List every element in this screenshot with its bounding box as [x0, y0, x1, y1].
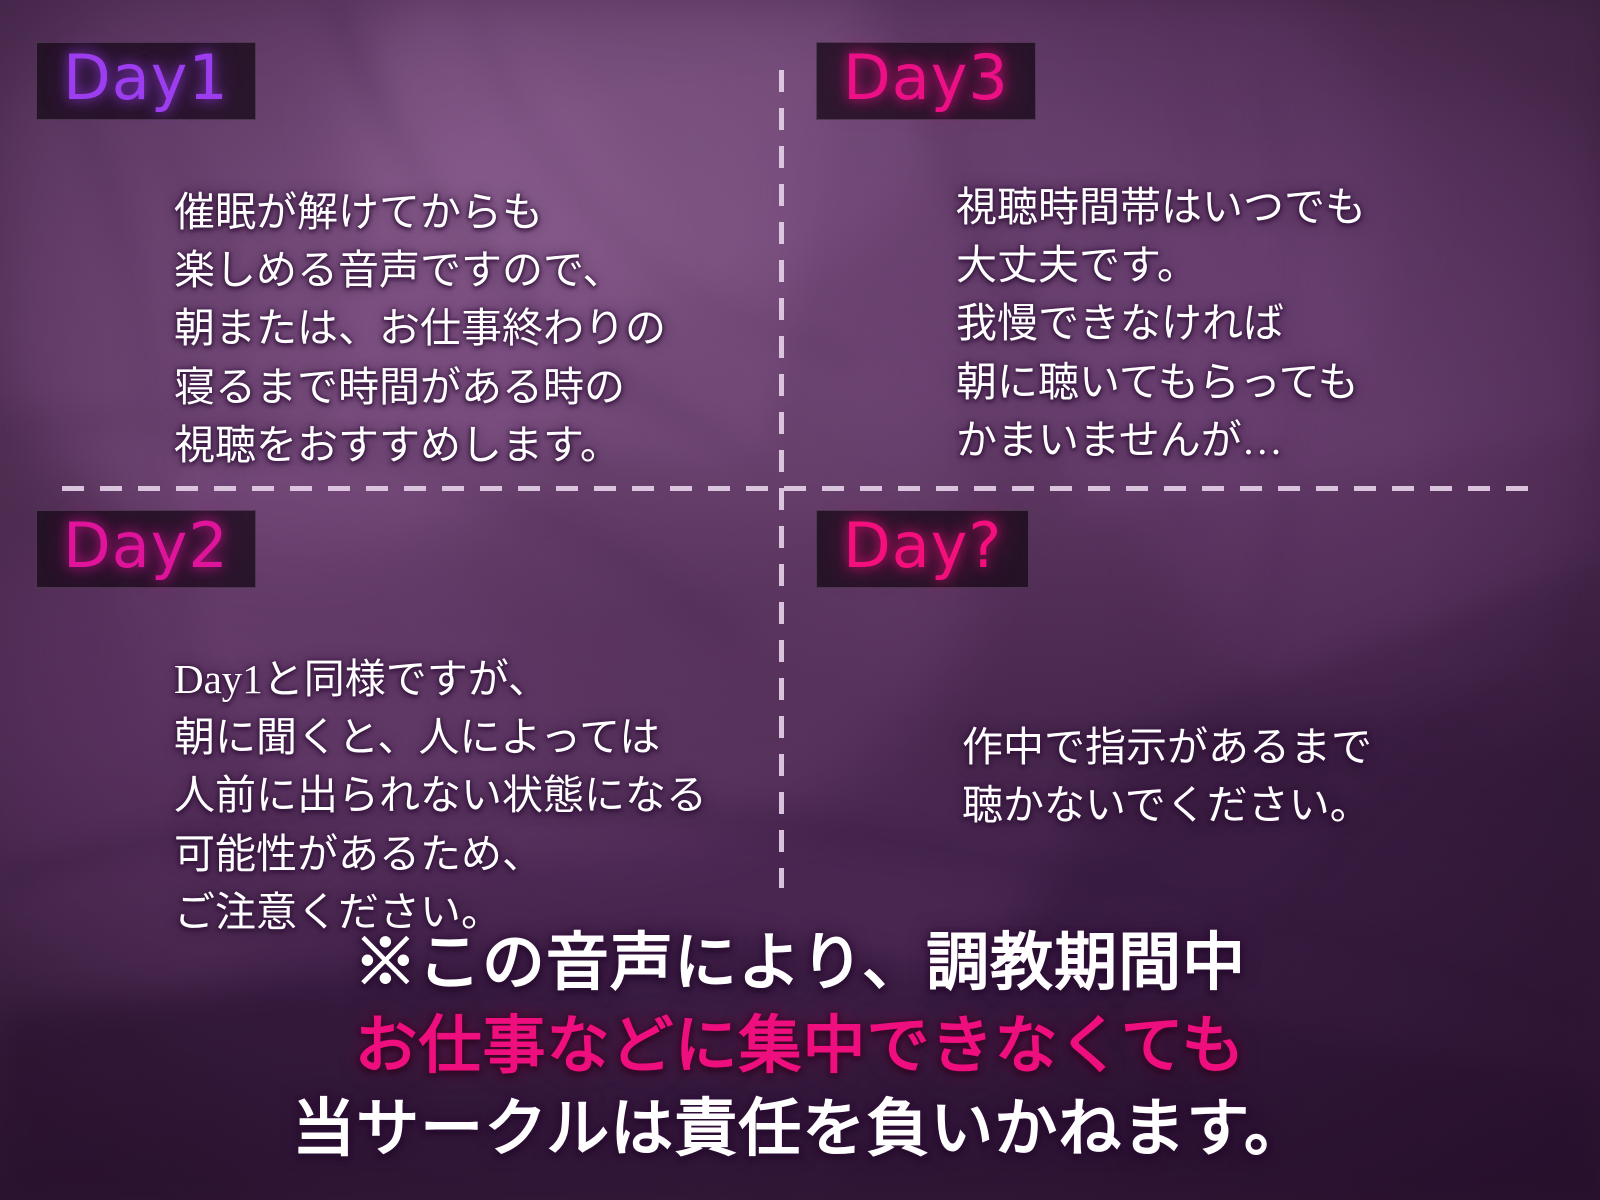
day2-body-text: Day1と同様ですが、 朝に聞くと、人によっては 人前に出られない状態になる 可…: [174, 650, 756, 941]
day2-badge: Day2: [36, 510, 256, 588]
divider-vertical-dashed: [779, 70, 784, 888]
warning-line-3: 当サークルは責任を負いかねます。: [0, 1088, 1600, 1171]
day1-body-text: 催眠が解けてからも 楽しめる音声ですので、 朝または、お仕事終わりの 寝るまで時…: [174, 183, 736, 474]
day-unknown-body-text: 作中で指示があるまで 聴かないでください。: [962, 718, 1516, 834]
bottom-warning-block: ※この音声により、調教期間中 お仕事などに集中できなくても 当サークルは責任を負…: [0, 922, 1600, 1171]
day2-badge-label: Day2: [63, 509, 229, 582]
quadrant-day2: Day2 Day1と同様ですが、 朝に聞くと、人によっては 人前に出られない状態…: [36, 510, 756, 941]
day-unknown-badge: Day?: [816, 510, 1029, 588]
quadrant-day3: Day3 視聴時間帯はいつでも 大丈夫です。 我慢できなければ 朝に聴いてもらっ…: [816, 42, 1516, 469]
quadrant-day1: Day1 催眠が解けてからも 楽しめる音声ですので、 朝または、お仕事終わりの …: [36, 42, 736, 474]
warning-line-2: お仕事などに集中できなくても: [0, 1005, 1600, 1088]
day3-body-text: 視聴時間帯はいつでも 大丈夫です。 我慢できなければ 朝に聴いてもらっても かま…: [956, 178, 1516, 469]
day-unknown-badge-label: Day?: [843, 509, 1002, 582]
day3-badge: Day3: [816, 42, 1036, 120]
notice-slide: Day1 催眠が解けてからも 楽しめる音声ですので、 朝または、お仕事終わりの …: [0, 0, 1600, 1200]
quadrant-day-unknown: Day? 作中で指示があるまで 聴かないでください。: [816, 510, 1516, 834]
day1-badge: Day1: [36, 42, 256, 120]
warning-line-1: ※この音声により、調教期間中: [0, 922, 1600, 1005]
divider-horizontal-dashed: [62, 486, 1536, 491]
day1-badge-label: Day1: [63, 41, 229, 114]
day3-badge-label: Day3: [843, 41, 1009, 114]
